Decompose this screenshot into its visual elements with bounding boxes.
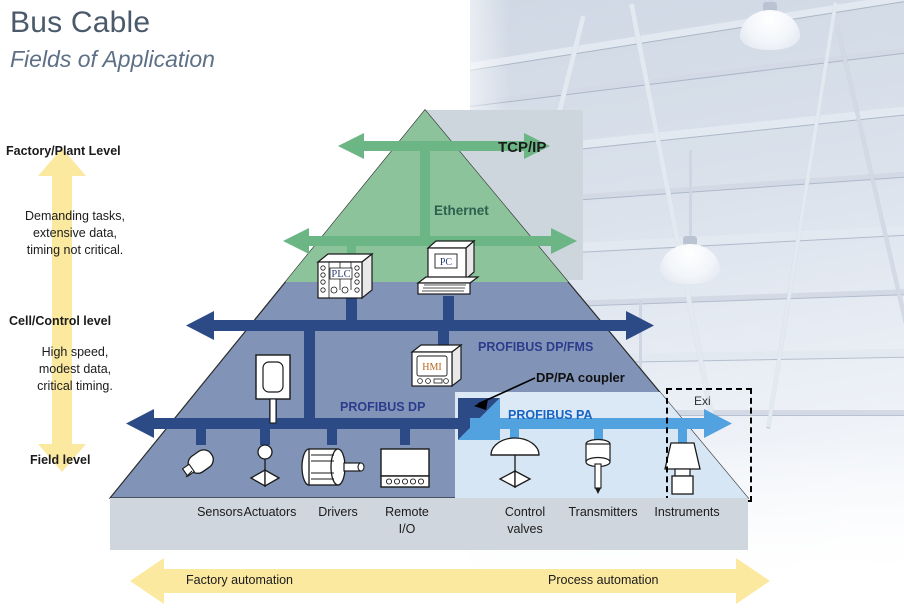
profibus-dp-label: PROFIBUS DP: [340, 400, 425, 414]
process-automation-arrowhead: [736, 558, 770, 604]
dpfms-drop-pc: [443, 296, 454, 324]
base-label: Remote I/O: [362, 504, 452, 538]
dp-drop-driver: [327, 427, 337, 445]
process-automation-label: Process automation: [548, 573, 658, 587]
profibus-dpfms-label: PROFIBUS DP/FMS: [478, 340, 593, 354]
dpfms-drop-plc: [346, 296, 357, 324]
dp-drop-actuator: [260, 427, 270, 445]
profibus-pa-label: PROFIBUS PA: [508, 408, 593, 422]
dp-pa-coupler-label: DP/PA coupler: [536, 370, 625, 385]
automation-span-arrows: Factory automation Process automation: [130, 558, 770, 604]
hmi-label: HMI: [422, 362, 441, 373]
base-label: Transmitters: [557, 504, 649, 521]
ethernet-label: Ethernet: [434, 203, 489, 218]
factory-automation-label: Factory automation: [186, 573, 293, 587]
factory-automation-arrowhead: [130, 558, 164, 604]
dp-trunk: [304, 325, 315, 423]
base-label: Instruments: [641, 504, 733, 521]
pc-label: PC: [440, 257, 453, 268]
diagram-canvas: Bus Cable Fields of Application Factory/…: [0, 0, 904, 610]
dp-drop-remoteio: [400, 427, 410, 445]
exi-label: Exi: [694, 394, 711, 408]
ethernet-trunk: [420, 146, 430, 241]
remote-io-icon: [381, 449, 429, 487]
dp-drop-sensor: [196, 427, 206, 445]
plc-label: PLC: [331, 269, 350, 280]
dpfms-drop-hmi: [438, 325, 449, 347]
tcpip-label: TCP/IP: [498, 139, 546, 156]
